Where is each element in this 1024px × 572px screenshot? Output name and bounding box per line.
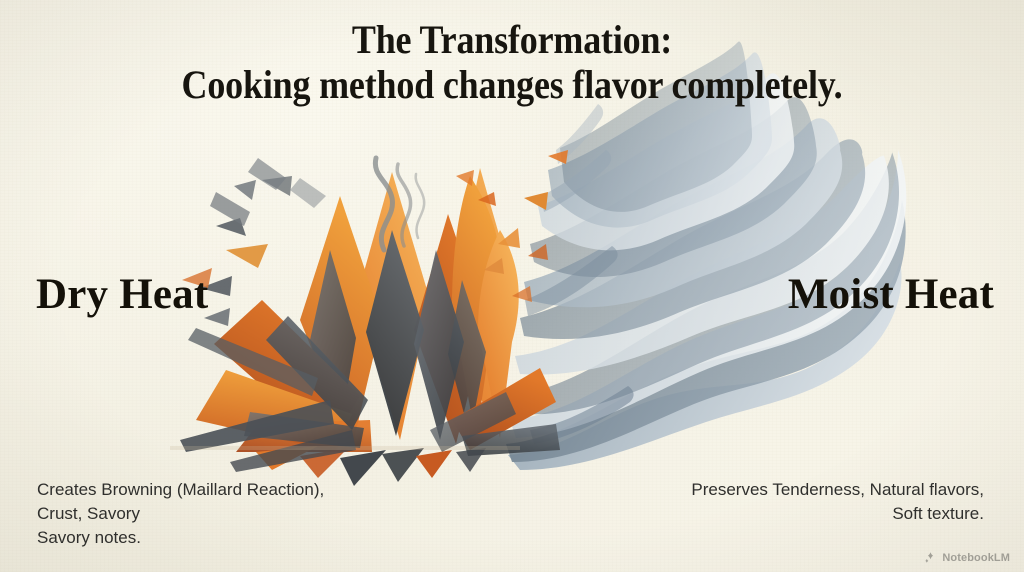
page-title: The Transformation: Cooking method chang… [0,20,1024,106]
moist-heat-caption: Preserves Tenderness, Natural flavors, S… [691,478,984,526]
dry-heat-caption-line-2: Crust, Savory [37,502,324,526]
flame-icon [170,150,568,486]
infographic-canvas: The Transformation: Cooking method chang… [0,0,1024,572]
title-line-1: The Transformation: [51,20,973,61]
moist-heat-label: Moist Heat [788,270,994,319]
dry-heat-caption-line-3: Savory notes. [37,526,324,550]
dry-heat-label: Dry Heat [36,270,208,319]
moist-heat-caption-line-2: Soft texture. [691,502,984,526]
moist-heat-caption-line-1: Preserves Tenderness, Natural flavors, [691,478,984,502]
dry-heat-caption-line-1: Creates Browning (Maillard Reaction), [37,478,324,502]
notebooklm-logo-icon [924,551,937,564]
dry-heat-caption: Creates Browning (Maillard Reaction), Cr… [37,478,324,550]
title-line-2: Cooking method changes flavor completely… [51,65,973,106]
notebooklm-watermark-text: NotebookLM [942,552,1010,564]
notebooklm-watermark: NotebookLM [924,551,1010,564]
